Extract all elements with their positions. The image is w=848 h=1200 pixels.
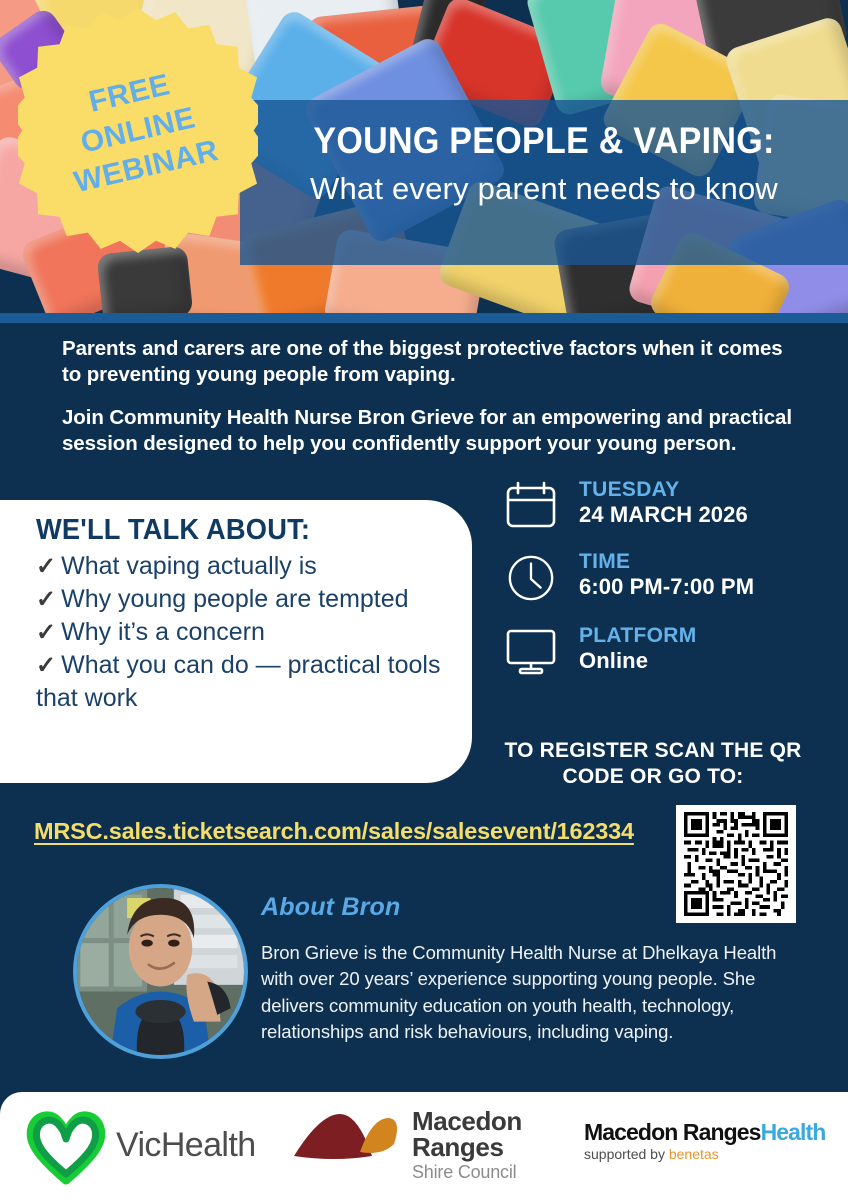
list-item: ✓Why it’s a concern [36,616,448,649]
mrh-wordmark: Macedon RangesHealth [584,1120,825,1144]
poster-root: YOUNG PEOPLE & VAPING: What every parent… [0,0,848,1200]
topics-card: WE'LL TALK ABOUT: ✓What vaping actually … [0,500,472,783]
mrh-support-prefix: supported by [584,1146,669,1162]
monitor-icon [505,624,563,680]
mrsc-line-1: Macedon [412,1108,522,1134]
registration-url-link[interactable]: MRSC.sales.ticketsearch.com/sales/salese… [34,818,634,845]
check-icon: ✓ [36,619,56,646]
mrh-blue-text: Health [761,1119,826,1145]
mrsc-wordmark: Macedon Ranges Shire Council [412,1108,522,1185]
about-bron-section: About Bron Bron Grieve is the Community … [261,893,801,1045]
list-item: ✓What you can do — practical tools that … [36,649,448,715]
benetas-brand: benetas [669,1146,719,1162]
detail-text-date: TUESDAY 24 MARCH 2026 [579,478,748,529]
intro-paragraph-2: Join Community Health Nurse Bron Grieve … [62,405,802,456]
footer-logo-bar: VicHealth Macedon Ranges Shire Council M… [0,1092,848,1200]
list-item-label: Why young people are tempted [61,585,408,613]
mountains-icon [290,1108,402,1166]
free-online-webinar-badge: FREE ONLINE WEBINAR [18,8,258,253]
detail-label: TUESDAY [579,478,748,502]
list-item-label: Why it’s a concern [61,618,265,646]
check-icon: ✓ [36,586,56,613]
detail-text-time: TIME 6:00 PM-7:00 PM [579,550,754,601]
macedon-ranges-shire-council-logo: Macedon Ranges Shire Council [290,1108,522,1185]
check-icon: ✓ [36,553,56,580]
detail-value: Online [579,648,697,674]
topics-list: ✓What vaping actually is ✓Why young peop… [36,550,448,715]
about-heading: About Bron [261,893,801,922]
detail-row-date: TUESDAY 24 MARCH 2026 [505,478,845,534]
vichealth-heart-icon [20,1102,112,1188]
calendar-icon [505,478,563,534]
detail-label: TIME [579,550,754,574]
detail-row-time: TIME 6:00 PM-7:00 PM [505,550,845,608]
register-instruction: TO REGISTER SCAN THE QR CODE OR GO TO: [480,738,826,791]
detail-value: 6:00 PM-7:00 PM [579,574,754,600]
mrsc-line-2: Ranges [412,1134,522,1161]
list-item: ✓What vaping actually is [36,550,448,583]
mrh-black-text: Macedon Ranges [584,1119,761,1145]
page-subtitle: What every parent needs to know [240,162,848,207]
page-title: YOUNG PEOPLE & VAPING: [264,100,823,162]
bron-portrait-photo [77,888,244,1055]
list-item-label: What you can do — practical tools that w… [36,651,440,712]
vichealth-logo: VicHealth [20,1102,256,1188]
list-item-label: What vaping actually is [61,552,317,580]
intro-paragraph-1: Parents and carers are one of the bigges… [62,336,802,387]
topics-card-title: WE'LL TALK ABOUT: [36,514,423,547]
about-body: Bron Grieve is the Community Health Nurs… [261,940,801,1045]
intro-text-block: Parents and carers are one of the bigges… [62,336,802,457]
clock-icon [505,550,563,608]
detail-row-platform: PLATFORM Online [505,624,845,680]
badge-text: FREE ONLINE WEBINAR [0,0,282,277]
macedon-ranges-health-logo: Macedon RangesHealth supported by beneta… [584,1120,825,1162]
mrsc-line-3: Shire Council [412,1161,522,1184]
hero-divider-stripe [0,313,848,323]
check-icon: ✓ [36,652,56,679]
title-banner: YOUNG PEOPLE & VAPING: What every parent… [240,100,848,265]
detail-value: 24 MARCH 2026 [579,502,748,528]
avatar [73,884,248,1059]
vichealth-wordmark: VicHealth [116,1126,256,1165]
event-details: TUESDAY 24 MARCH 2026 TIME 6:00 PM-7:00 … [505,478,845,696]
detail-label: PLATFORM [579,624,697,648]
list-item: ✓Why young people are tempted [36,583,448,616]
mrh-support-line: supported by benetas [584,1146,825,1162]
detail-text-platform: PLATFORM Online [579,624,697,675]
